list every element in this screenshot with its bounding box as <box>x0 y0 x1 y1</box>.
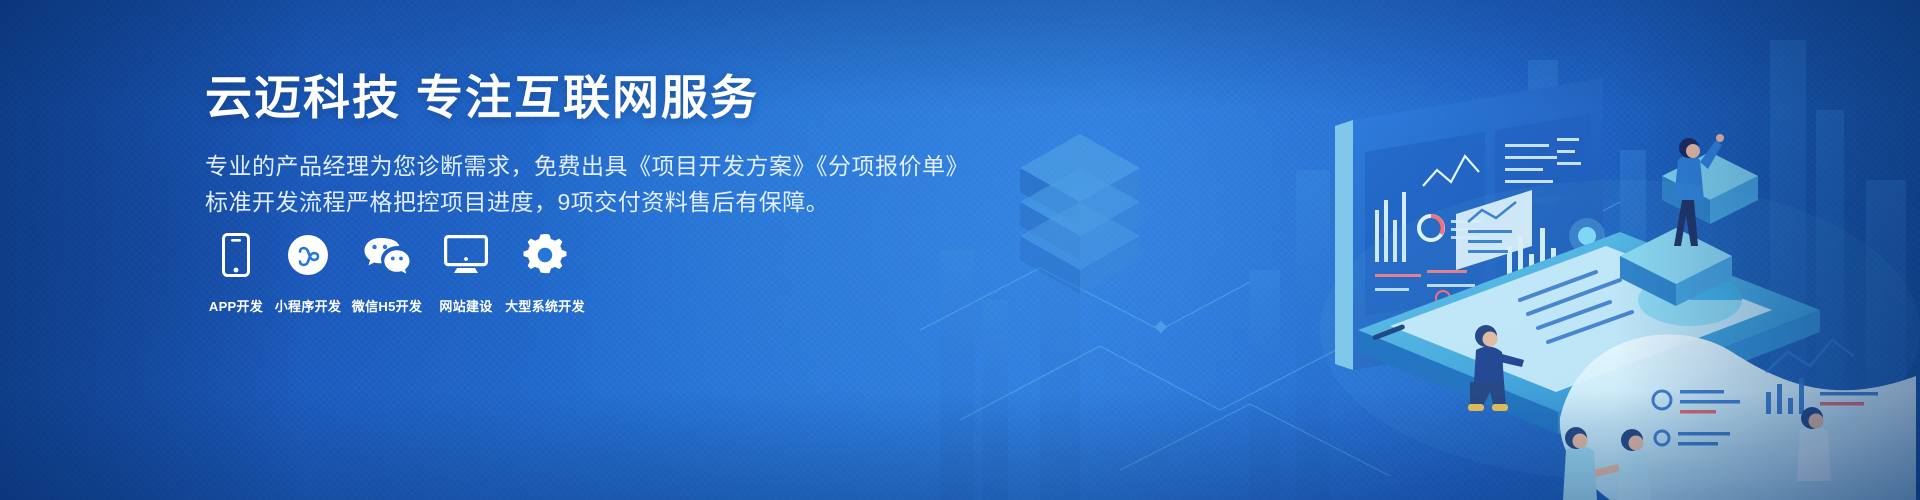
wechat-icon <box>363 232 411 278</box>
hero-banner: 云迈科技 专注互联网服务 专业的产品经理为您诊断需求，免费出具《项目开发方案》《… <box>0 0 1920 500</box>
isometric-tech-illustration <box>920 0 1920 500</box>
service-label-website: 网站建设 <box>439 296 492 315</box>
service-label-wechat-h5: 微信H5开发 <box>352 296 422 315</box>
monitor-icon <box>444 232 488 278</box>
subtitle-line-1: 专业的产品经理为您诊断需求，免费出具《项目开发方案》《分项报价单》 <box>205 148 925 184</box>
mobile-phone-icon <box>222 232 250 278</box>
service-item-wechat-h5[interactable]: 微信H5开发 <box>344 232 430 315</box>
hero-copy: 云迈科技 专注互联网服务 专业的产品经理为您诊断需求，免费出具《项目开发方案》《… <box>205 72 925 220</box>
subtitle-line-2: 标准开发流程严格把控项目进度，9项交付资料售后有保障。 <box>205 184 925 220</box>
service-icon-row: APP开发 小程序开发 微信 <box>200 232 588 315</box>
service-label-miniprogram: 小程序开发 <box>275 296 342 315</box>
server-stack <box>1020 134 1140 294</box>
service-label-app: APP开发 <box>209 296 263 315</box>
mini-program-icon <box>287 232 329 278</box>
page-title: 云迈科技 专注互联网服务 <box>205 72 925 124</box>
service-item-app[interactable]: APP开发 <box>200 232 272 315</box>
gear-icon <box>523 232 567 278</box>
service-item-website[interactable]: 网站建设 <box>430 232 502 315</box>
service-item-large-system[interactable]: 大型系统开发 <box>502 232 588 315</box>
hero-subtitle: 专业的产品经理为您诊断需求，免费出具《项目开发方案》《分项报价单》 标准开发流程… <box>205 148 925 220</box>
service-item-miniprogram[interactable]: 小程序开发 <box>272 232 344 315</box>
service-label-large-system: 大型系统开发 <box>505 296 585 315</box>
